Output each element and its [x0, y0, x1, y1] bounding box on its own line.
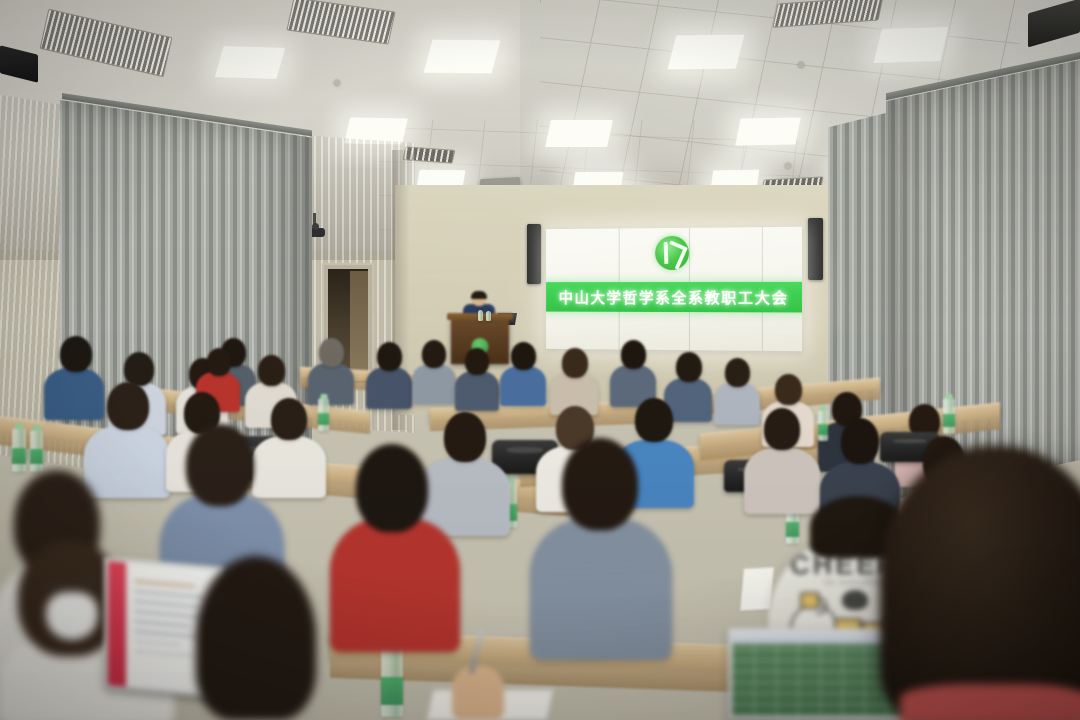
laptop-app-sidebar: [108, 561, 126, 687]
attendee-head: [124, 352, 154, 386]
attendee-head: [621, 340, 646, 369]
attendee-head: [60, 336, 92, 372]
ceiling-light-panel: [424, 40, 501, 74]
bottle-cap: [15, 423, 23, 429]
doc-text-line: [135, 640, 181, 646]
attendee-head: [725, 358, 750, 387]
attendee-hand: [452, 666, 504, 720]
attendee-head-foreground: [880, 446, 1080, 720]
attendee-torso: [330, 518, 460, 652]
attendee: [744, 408, 820, 508]
attendee-head: [511, 342, 536, 370]
attendee-torso: [455, 371, 499, 411]
bottle-label: [12, 448, 26, 464]
attendee-torso: [744, 448, 820, 514]
water-bottle: [30, 430, 43, 472]
slide-logo-wrap: [546, 235, 802, 270]
attendee-head: [562, 438, 638, 530]
water-bottle: [478, 310, 483, 321]
attendee-head: [356, 444, 428, 532]
attendee-torso-foreground: [900, 684, 1080, 720]
bottle-cap: [946, 394, 953, 399]
water-bottle: [381, 645, 403, 717]
doc-text-line: [135, 630, 201, 637]
bottle-label: [30, 449, 43, 464]
water-bottle: [943, 398, 955, 434]
ceiling-light-panel: [874, 27, 949, 63]
attendee-head: [196, 556, 316, 720]
attendee-head: [465, 348, 489, 375]
bottle-cap: [33, 425, 41, 431]
doc-text-line: [135, 581, 194, 588]
attendee: [500, 342, 546, 402]
doc-text-line: [135, 601, 199, 608]
doc-text-line: [135, 620, 190, 626]
wall-speaker-right: [808, 218, 823, 280]
hat-icon: [800, 592, 820, 609]
ceiling-light-panel: [735, 117, 801, 145]
wall-speaker-left: [527, 224, 541, 284]
sprinkler-icon: [785, 163, 791, 169]
attendee-head: [377, 342, 402, 371]
attendee-head: [676, 352, 702, 382]
ceiling-light-panel: [545, 120, 613, 147]
bottle-label: [943, 414, 955, 427]
attendee-head: [207, 348, 231, 376]
attendee-torso: [366, 367, 412, 409]
doc-text-line: [135, 650, 197, 657]
attendee-head: [775, 374, 802, 405]
attendee-head: [258, 355, 285, 386]
doc-text-line: [135, 591, 203, 599]
water-bottle: [486, 311, 491, 321]
attendee-head: [107, 382, 149, 430]
attendee: [530, 438, 672, 654]
attendee-torso: [530, 518, 672, 660]
slide-title-banner: 中山大学哲学系全系教职工大会: [546, 282, 802, 313]
sun-yat-sen-university-logo-icon: [655, 236, 689, 270]
bottle-cap: [820, 406, 826, 411]
face-mask: [46, 592, 98, 640]
attendee-head: [562, 348, 588, 378]
slide-title-text: 中山大学哲学系全系教职工大会: [559, 286, 789, 307]
attendee-torso: [500, 366, 546, 406]
attendee: [330, 444, 460, 644]
attendee-head: [422, 340, 446, 368]
attendee-head: [186, 424, 254, 506]
sprinkler-icon: [334, 80, 340, 86]
doc-text-line: [135, 611, 206, 619]
bottle-label: [381, 677, 403, 705]
attendee-head: [841, 418, 879, 464]
attendee-head: [635, 398, 673, 442]
attendee: [610, 340, 656, 402]
presenter-hair: [471, 291, 487, 299]
attendee: [366, 342, 412, 404]
water-bottle: [12, 428, 26, 472]
bottle-label: [786, 522, 799, 537]
tshirt-dot: [842, 590, 868, 610]
attendee-torso: [412, 364, 456, 404]
attendee: [455, 348, 499, 406]
attendee-head: [764, 408, 800, 450]
projection-screen: 中山大学哲学系全系教职工大会: [546, 227, 802, 351]
ceiling-light-panel: [215, 46, 285, 79]
sprinkler-icon: [798, 62, 804, 68]
attendee: [412, 340, 456, 400]
ceiling-light-panel: [668, 35, 745, 70]
attendee: [308, 338, 354, 400]
conference-room-photo: 中山大学哲学系全系教职工大会: [0, 0, 1080, 720]
attendee-head: [319, 338, 344, 367]
attendee: [550, 348, 598, 410]
